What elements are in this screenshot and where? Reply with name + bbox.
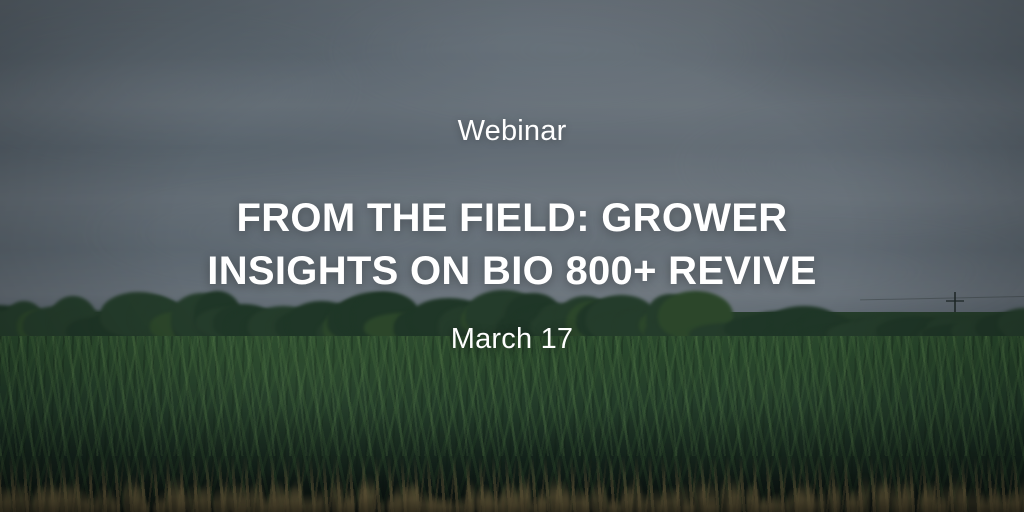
webinar-promo-banner: Webinar FROM THE FIELD: GROWER INSIGHTS …	[0, 0, 1024, 512]
banner-content: Webinar FROM THE FIELD: GROWER INSIGHTS …	[0, 0, 1024, 512]
event-date: March 17	[451, 324, 574, 356]
page-title: FROM THE FIELD: GROWER INSIGHTS ON BIO 8…	[162, 192, 862, 298]
eyebrow-label: Webinar	[458, 116, 567, 148]
